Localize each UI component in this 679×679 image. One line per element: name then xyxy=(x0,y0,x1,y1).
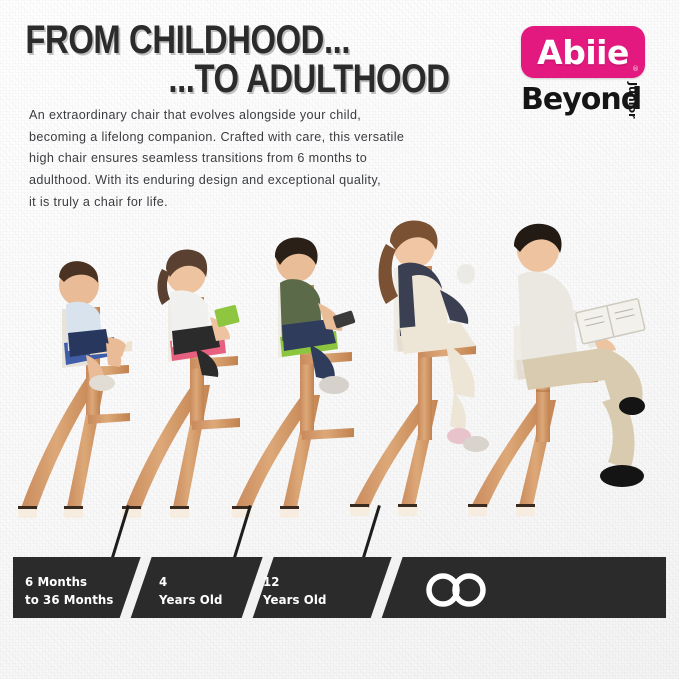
timeline-segment-line-1: 12 xyxy=(263,573,326,591)
figure-adult-man-in-chair xyxy=(452,220,679,525)
product-line-wordmark: Beyond xyxy=(521,82,641,117)
headline-line-1: FROM CHILDHOOD... xyxy=(0,22,371,59)
timeline-segment-0: 6 Months to 36 Months xyxy=(25,573,113,609)
timeline-segment-line-2: to 36 Months xyxy=(25,591,113,609)
paragraph-line: high chair ensures seamless transitions … xyxy=(29,148,491,170)
description-paragraph: An extraordinary chair that evolves alon… xyxy=(29,105,491,213)
timeline-segment-line-1: 4 xyxy=(159,573,222,591)
timeline-segment-line-1: 6 Months xyxy=(25,573,113,591)
age-timeline-bar: 6 Months to 36 Months 4 Years Old 12 Yea… xyxy=(13,557,666,618)
timeline-segment-line-2: Years Old xyxy=(263,591,326,609)
timeline-segment-2: 12 Years Old xyxy=(263,573,326,609)
logo-badge: Abiie ® xyxy=(521,26,645,78)
paragraph-line: adulthood. With its enduring design and … xyxy=(29,170,491,192)
promo-infographic: FROM CHILDHOOD... ...TO ADULTHOOD An ext… xyxy=(0,0,679,679)
infinity-icon xyxy=(424,572,490,608)
paragraph-line: it is truly a chair for life. xyxy=(29,192,491,214)
timeline-divider xyxy=(115,557,156,618)
timeline-segment-line-2: Years Old xyxy=(159,591,222,609)
registered-trademark-icon: ® xyxy=(632,65,639,73)
page-title: FROM CHILDHOOD... ...TO ADULTHOOD xyxy=(0,22,452,98)
paragraph-line: An extraordinary chair that evolves alon… xyxy=(29,105,491,127)
chair-evolution-scene xyxy=(0,215,679,525)
timeline-segment-1: 4 Years Old xyxy=(159,573,222,609)
brand-logo: Abiie ® Beyond Junior xyxy=(513,26,663,126)
edition-wordmark: Junior xyxy=(626,82,639,119)
timeline-divider xyxy=(366,557,407,618)
paragraph-line: becoming a lifelong companion. Crafted w… xyxy=(29,127,491,149)
headline-line-2: ...TO ADULTHOOD xyxy=(81,61,452,98)
brand-wordmark: Abiie xyxy=(521,26,645,78)
